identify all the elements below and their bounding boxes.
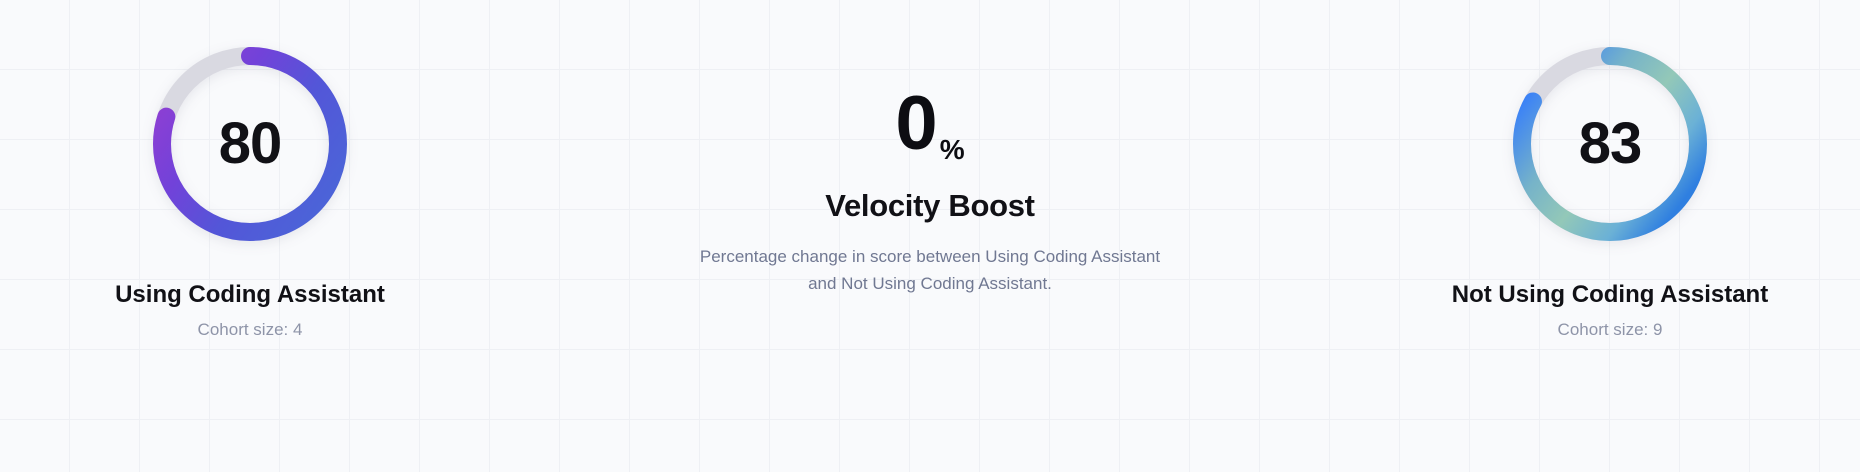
velocity-boost-panel: 0 % Velocity Boost Percentage change in … <box>610 0 1250 298</box>
velocity-boost-comparison: 80 Using Coding Assistant Cohort size: 4… <box>0 0 1860 472</box>
gauge-cohort-right: Cohort size: 9 <box>1452 319 1768 341</box>
delta-unit: % <box>940 136 965 164</box>
gauge-label-right: Not Using Coding Assistant <box>1452 280 1768 310</box>
gauge-caption-left: Using Coding Assistant Cohort size: 4 <box>115 280 385 341</box>
gauge-not-using-coding-assistant[interactable]: 83 <box>1504 38 1716 250</box>
velocity-boost-description: Percentage change in score between Using… <box>695 244 1165 298</box>
delta-value: 0 <box>895 86 935 162</box>
gauge-cohort-left: Cohort size: 4 <box>115 319 385 341</box>
gauge-panel-using-coding-assistant: 80 Using Coding Assistant Cohort size: 4 <box>0 0 500 341</box>
delta-display: 0 % <box>895 86 964 162</box>
gauge-label-left: Using Coding Assistant <box>115 280 385 310</box>
velocity-boost-title: Velocity Boost <box>825 188 1034 224</box>
gauge-caption-right: Not Using Coding Assistant Cohort size: … <box>1452 280 1768 341</box>
gauge-using-coding-assistant[interactable]: 80 <box>144 38 356 250</box>
gauge-panel-not-using-coding-assistant: 83 Not Using Coding Assistant Cohort siz… <box>1360 0 1860 341</box>
gauge-value-left: 80 <box>144 38 356 250</box>
gauge-value-right: 83 <box>1504 38 1716 250</box>
